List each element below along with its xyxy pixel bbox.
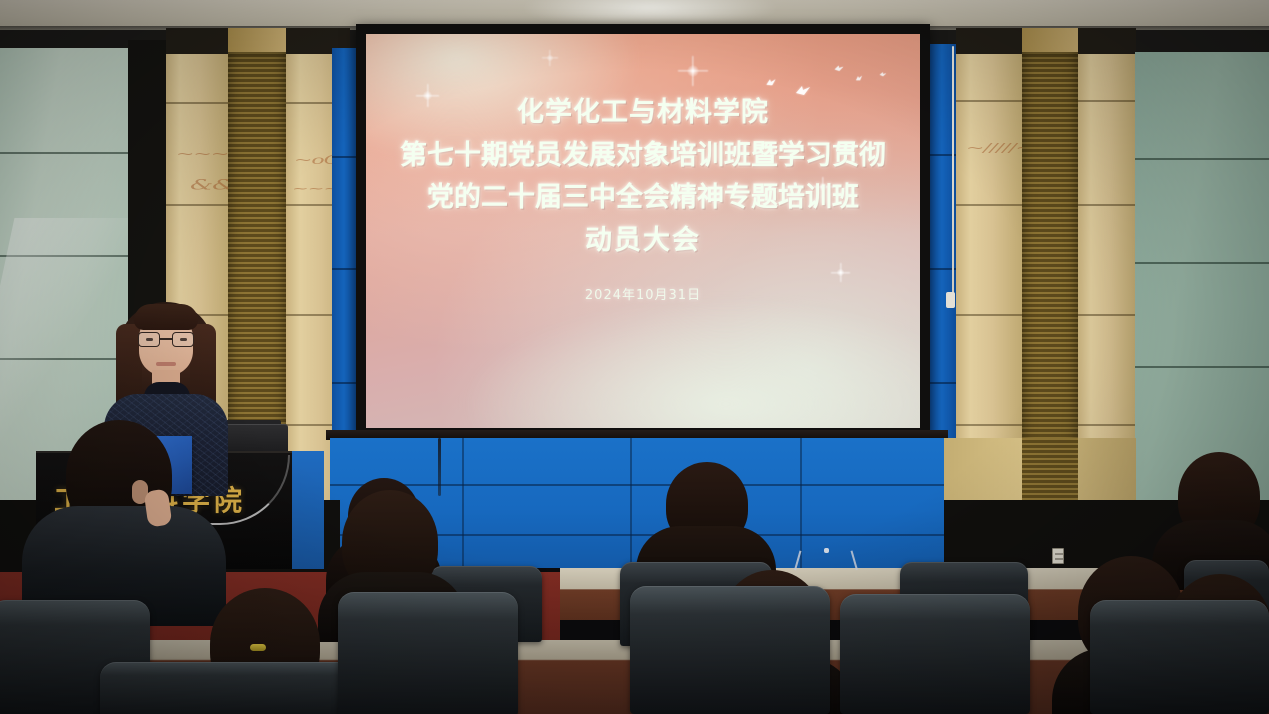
slide-text-block: 化学化工与材料学院 第七十期党员发展对象培训班暨学习贯彻 党的二十届三中全会精神… xyxy=(366,34,920,428)
hair-tie-yellow xyxy=(250,644,266,651)
slide-title-line-4: 动员大会 xyxy=(585,224,701,259)
chair-front-4[interactable] xyxy=(630,586,830,714)
ceiling-light-glare xyxy=(520,0,780,22)
wood-slat-column-right xyxy=(1022,52,1078,504)
cable-clip-right xyxy=(946,292,955,308)
pilaster-right-top-block xyxy=(1022,28,1078,54)
pilaster-right-a xyxy=(956,52,1022,504)
speaker-mouth xyxy=(156,362,176,366)
projection-screen: 化学化工与材料学院 第七十期党员发展对象培训班暨学习贯彻 党的二十届三中全会精神… xyxy=(366,34,920,428)
slide-date: 2024年10月31日 xyxy=(585,284,701,303)
wall-panel-green-right xyxy=(1135,52,1269,500)
speaker-fringe xyxy=(134,304,198,330)
slide-title-line-2: 第七十期党员发展对象培训班暨学习贯彻 xyxy=(400,139,886,174)
chair-front-5[interactable] xyxy=(840,594,1030,714)
chair-front-6[interactable] xyxy=(1090,600,1269,714)
auditorium-photo: ~~~~~~ && ~oOo~ ~~~~~~~ ~/////~ xyxy=(0,0,1269,714)
wainscot-slats-right xyxy=(1022,438,1078,500)
wall-cable-right xyxy=(952,46,954,296)
pilaster-left-top-block xyxy=(228,28,286,54)
slide-title-line-1: 化学化工与材料学院 xyxy=(517,96,769,131)
glasses-icon xyxy=(138,332,194,347)
projection-screen-frame: 化学化工与材料学院 第七十期党员发展对象培训班暨学习贯彻 党的二十届三中全会精神… xyxy=(356,24,930,438)
pilaster-right-b xyxy=(1078,52,1136,504)
desk-microphone[interactable] xyxy=(790,548,862,570)
chair-front-3[interactable] xyxy=(338,592,518,714)
slide-title-line-3: 党的二十届三中全会精神专题培训班 xyxy=(427,181,859,216)
